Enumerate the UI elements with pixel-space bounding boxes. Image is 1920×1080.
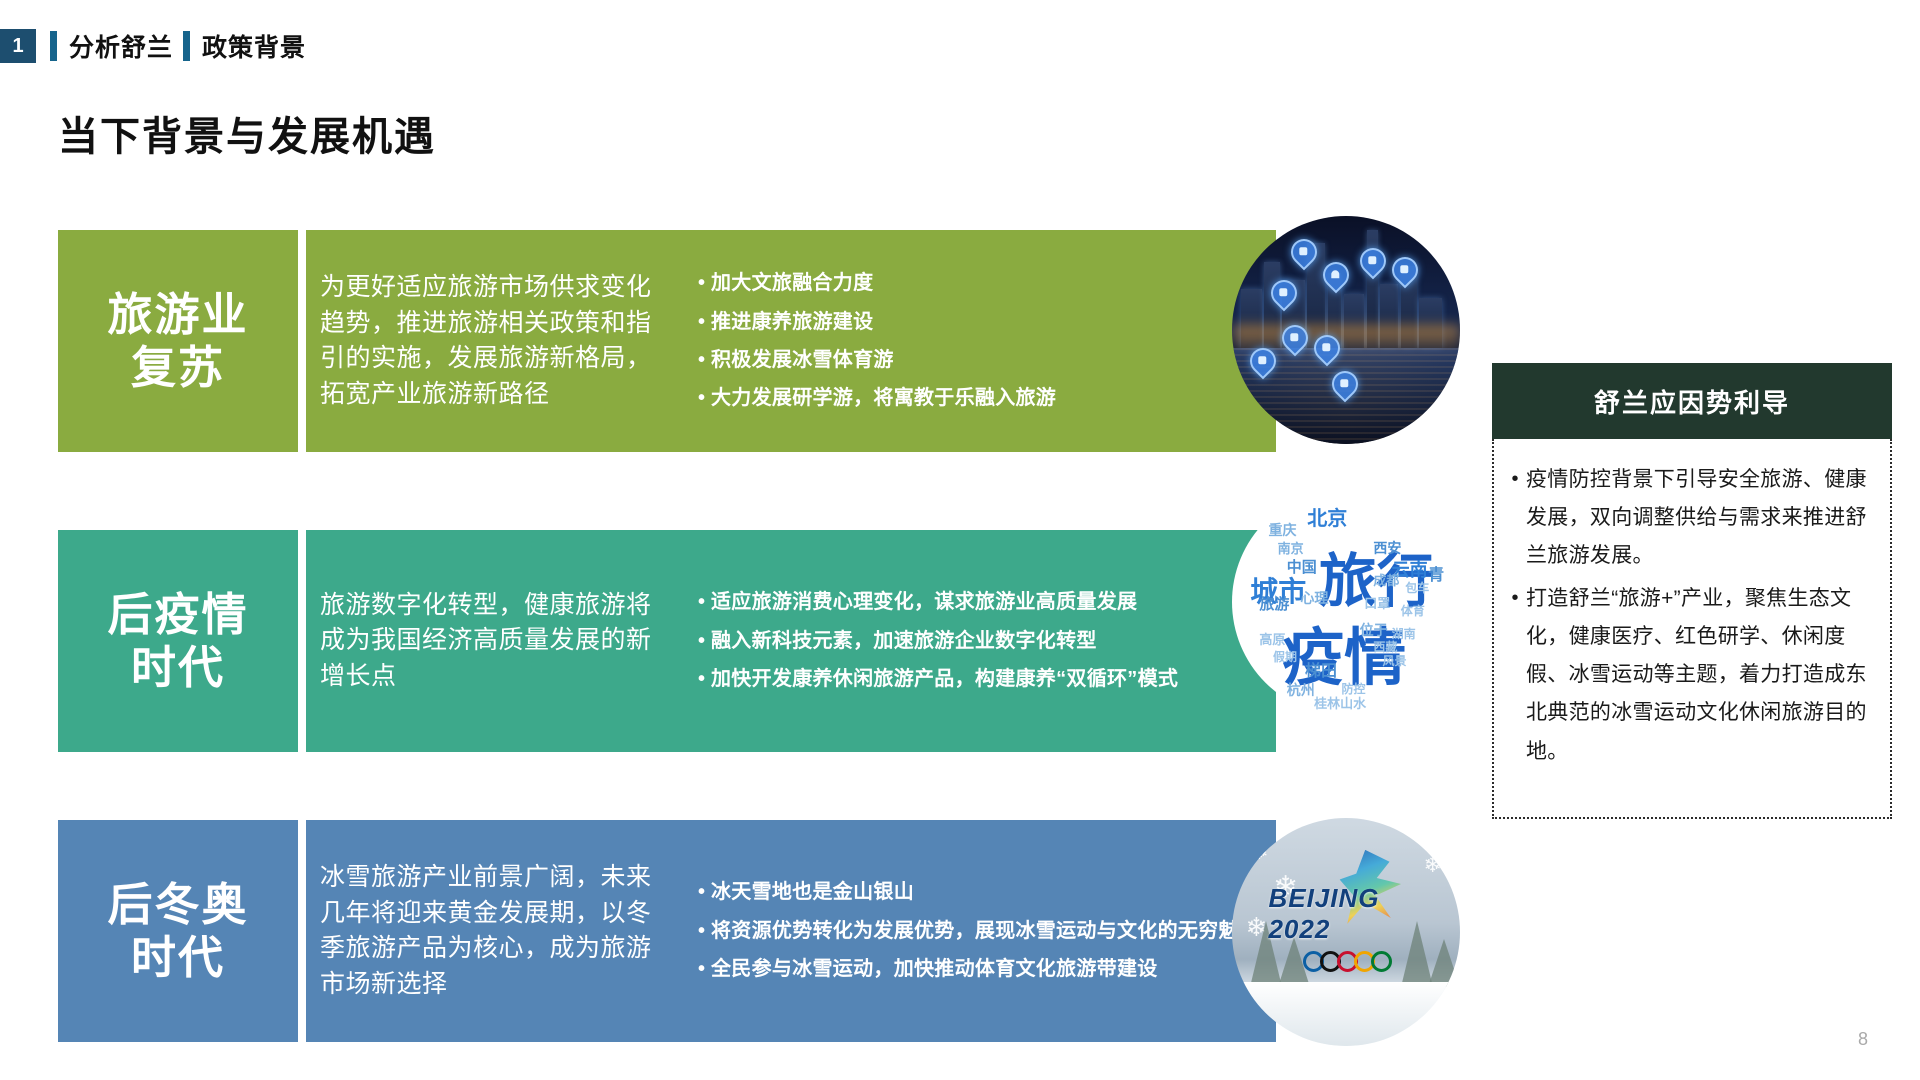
bullet-item: 融入新科技元素，加速旅游企业数字化转型 — [698, 627, 1266, 655]
wordcloud-word: 南京 — [1278, 538, 1304, 557]
side-panel-list-item: • 打造舒兰“旅游+”产业，聚焦生态文化，健康医疗、红色研学、休闲度假、冰雪运动… — [1504, 580, 1874, 771]
snowflake-icon: ❄ — [1424, 854, 1442, 876]
page-number: 8 — [1858, 1029, 1868, 1050]
row-label-tourism-recovery: 旅游业 复苏 — [58, 230, 298, 452]
row-label-line2: 时代 — [131, 641, 225, 694]
wordcloud-word: 心理 — [1300, 588, 1328, 608]
beijing-2022-sign: BEIJING 2022 — [1268, 900, 1423, 955]
row-label-line1: 后疫情 — [107, 588, 248, 641]
row-label-line1: 旅游业 — [107, 288, 248, 341]
wordcloud-word: 体育 — [1401, 602, 1425, 619]
winter-scene-graphic: ❄ ❄ ❄ ❄ BEIJING 2022 — [1232, 818, 1460, 1046]
map-pin-icon — [1354, 243, 1391, 280]
wordcloud-word: 防控 — [1341, 680, 1365, 697]
bullet-item: 冰天雪地也是金山银山 — [698, 878, 1266, 906]
wordcloud-word: 北京 — [1307, 502, 1347, 531]
row-description-box-2: 旅游数字化转型，健康旅游将成为我国经济高质量发展的新增长点 — [306, 530, 676, 752]
wordcloud-word: 成都 — [1373, 570, 1399, 589]
row-description-3: 冰雪旅游产业前景广阔，未来几年将迎来黄金发展期，以冬季旅游产品为核心，成为旅游市… — [320, 860, 662, 1002]
wordcloud-word: 假期 — [1273, 648, 1297, 665]
bullet-item: 将资源优势转化为发展优势，展现冰雪运动与文化的无穷魅力 — [698, 917, 1266, 945]
side-panel-item-text: 打造舒兰“旅游+”产业，聚焦生态文化，健康医疗、红色研学、休闲度假、冰雪运动等主… — [1526, 580, 1874, 771]
row-post-olympics-era: 后冬奥 时代 冰雪旅游产业前景广阔，未来几年将迎来黄金发展期，以冬季旅游产品为核… — [58, 820, 1276, 1042]
city-skyline-graphic — [1232, 216, 1460, 444]
row-label-line2: 时代 — [131, 931, 225, 984]
row-label-post-epidemic-era: 后疫情 时代 — [58, 530, 298, 752]
map-pin-icon — [1386, 252, 1423, 289]
snowflake-icon: ❄ — [1250, 841, 1268, 863]
bullet-glyph: • — [1504, 580, 1526, 616]
wordcloud-word: 风景 — [1382, 652, 1406, 669]
wordcloud-word: 高原 — [1259, 629, 1285, 648]
bullet-item: 加快开发康养休闲旅游产品，构建康养“双循环”模式 — [698, 665, 1266, 693]
row-bullets-box-1: 加大文旅融合力度 推进康养旅游建设 积极发展冰雪体育游 大力发展研学游，将寓教于… — [676, 230, 1276, 452]
side-panel: 舒兰应因势利导 • 疫情防控背景下引导安全旅游、健康发展，双向调整供给与需求来推… — [1492, 363, 1892, 819]
wordcloud-word: 包车 — [1405, 579, 1429, 596]
wordcloud-word: 杭州 — [1287, 680, 1315, 700]
side-panel-item-text: 疫情防控背景下引导安全旅游、健康发展，双向调整供给与需求来推进舒兰旅游发展。 — [1526, 461, 1874, 576]
row-gap — [298, 230, 306, 452]
side-panel-title: 舒兰应因势利导 — [1594, 383, 1790, 420]
row-gap — [298, 820, 306, 1042]
side-panel-list-item: • 疫情防控背景下引导安全旅游、健康发展，双向调整供给与需求来推进舒兰旅游发展。 — [1504, 461, 1874, 576]
wordcloud-word: 旅游 — [1259, 593, 1289, 614]
wordcloud-word: 青 — [1428, 561, 1444, 585]
row-description-2: 旅游数字化转型，健康旅游将成为我国经济高质量发展的新增长点 — [320, 588, 662, 695]
row-description-1: 为更好适应旅游市场供求变化趋势，推进旅游相关政策和指引的实施，发展旅游新格局，拓… — [320, 270, 662, 412]
row-description-box-3: 冰雪旅游产业前景广阔，未来几年将迎来黄金发展期，以冬季旅游产品为核心，成为旅游市… — [306, 820, 676, 1042]
row-post-epidemic-era: 后疫情 时代 旅游数字化转型，健康旅游将成为我国经济高质量发展的新增长点 适应旅… — [58, 530, 1276, 752]
row-bullets-box-2: 适应旅游消费心理变化，谋求旅游业高质量发展 融入新科技元素，加速旅游企业数字化转… — [676, 530, 1276, 752]
row-description-box-1: 为更好适应旅游市场供求变化趋势，推进旅游相关政策和指引的实施，发展旅游新格局，拓… — [306, 230, 676, 452]
side-panel-body: • 疫情防控背景下引导安全旅游、健康发展，双向调整供给与需求来推进舒兰旅游发展。… — [1492, 439, 1892, 819]
bullet-item: 全民参与冰雪运动，加快推动体育文化旅游带建设 — [698, 955, 1266, 983]
image-night-city-skyline-iot — [1232, 216, 1460, 444]
olympic-rings-icon — [1303, 951, 1388, 972]
wordcloud-word: 口罩 — [1364, 593, 1390, 612]
side-panel-header: 舒兰应因势利导 — [1492, 363, 1892, 439]
bullet-glyph: • — [1504, 461, 1526, 497]
wordcloud-word: 中国 — [1287, 556, 1317, 577]
bullet-item: 适应旅游消费心理变化，谋求旅游业高质量发展 — [698, 588, 1266, 616]
image-beijing-2022-winter-olympics: ❄ ❄ ❄ ❄ BEIJING 2022 — [1232, 818, 1460, 1046]
bullet-item: 推进康养旅游建设 — [698, 308, 1266, 336]
wordcloud-word: 重庆 — [1268, 520, 1296, 540]
wordcloud-word: 湖南 — [1392, 625, 1416, 642]
wordcloud-word: 位于 — [1360, 620, 1388, 640]
row-label-line2: 复苏 — [131, 341, 225, 394]
wordcloud-word: 西安 — [1373, 538, 1401, 558]
bullet-item: 积极发展冰雪体育游 — [698, 346, 1266, 374]
row-label-post-olympics-era: 后冬奥 时代 — [58, 820, 298, 1042]
beijing-2022-text: BEIJING 2022 — [1268, 883, 1423, 945]
row-gap — [298, 530, 306, 752]
wordcloud-word: 梯田 — [1305, 657, 1337, 681]
row-bullets-box-3: 冰天雪地也是金山银山 将资源优势转化为发展优势，展现冰雪运动与文化的无穷魅力 全… — [676, 820, 1276, 1042]
row-label-line1: 后冬奥 — [107, 878, 248, 931]
bullet-item: 加大文旅融合力度 — [698, 269, 1266, 297]
wordcloud-graphic: 旅行疫情城市北京重庆南京中国西安云南成都包车青旅游心理口罩体育位于高原梯田杭州桂… — [1232, 488, 1460, 716]
row-tourism-recovery: 旅游业 复苏 为更好适应旅游市场供求变化趋势，推进旅游相关政策和指引的实施，发展… — [58, 230, 1276, 452]
image-travel-epidemic-wordcloud: 旅行疫情城市北京重庆南京中国西安云南成都包车青旅游心理口罩体育位于高原梯田杭州桂… — [1232, 488, 1460, 716]
bullet-item: 大力发展研学游，将寓教于乐融入旅游 — [698, 384, 1266, 412]
